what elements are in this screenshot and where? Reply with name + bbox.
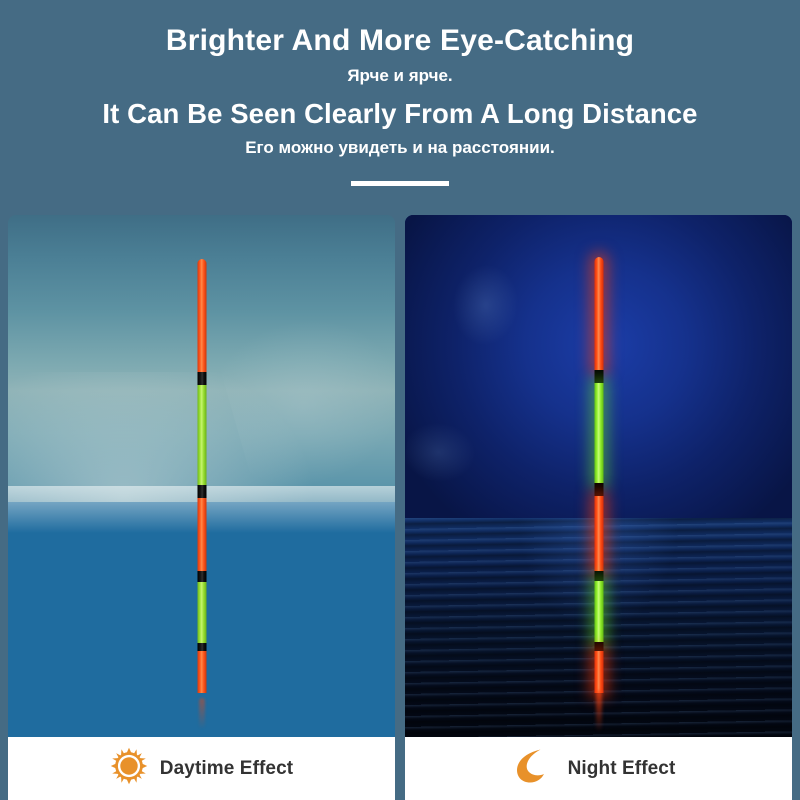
night-fishing-float	[594, 257, 603, 693]
page-subtitle-ru-1: Ярче и ярче.	[0, 62, 800, 90]
float-segment-black	[594, 571, 603, 582]
float-segment-orange	[594, 651, 603, 692]
night-caption-bar: Night Effect	[405, 737, 792, 800]
daytime-float-reflection	[199, 698, 205, 729]
float-segment-green	[197, 582, 206, 643]
header-divider	[351, 181, 449, 186]
panel-daytime[interactable]: Daytime Effect	[0, 212, 395, 800]
float-segment-orange	[197, 651, 206, 692]
panel-night[interactable]: Night Effect	[405, 212, 800, 800]
sun-icon	[110, 747, 148, 790]
float-segment-black	[197, 372, 206, 385]
night-float-reflection	[596, 690, 602, 732]
float-segment-orange	[197, 498, 206, 572]
float-segment-black	[594, 483, 603, 496]
comparison-panels: Daytime Effect Night Effect	[0, 212, 800, 800]
float-segment-green	[594, 383, 603, 483]
float-segment-black	[594, 642, 603, 651]
daytime-photo	[8, 215, 395, 737]
page-subtitle-ru-2: Его можно увидеть и на расстоянии.	[0, 134, 800, 161]
float-segment-orange	[594, 257, 603, 370]
header: Brighter And More Eye-Catching Ярче и яр…	[0, 0, 800, 161]
daytime-caption-bar: Daytime Effect	[8, 737, 395, 800]
daytime-fishing-float	[197, 259, 206, 692]
float-segment-black	[197, 643, 206, 652]
night-photo	[405, 215, 792, 737]
float-segment-orange	[197, 259, 206, 372]
page-title-secondary: It Can Be Seen Clearly From A Long Dista…	[0, 96, 800, 132]
moon-icon	[512, 747, 546, 790]
float-segment-black	[197, 485, 206, 498]
night-caption-label: Night Effect	[568, 758, 676, 780]
float-segment-green	[197, 385, 206, 485]
page-title: Brighter And More Eye-Catching	[0, 22, 800, 60]
daytime-caption-label: Daytime Effect	[160, 758, 293, 780]
panel-divider	[395, 212, 405, 800]
float-segment-orange	[594, 496, 603, 570]
float-segment-green	[594, 581, 603, 642]
float-segment-black	[594, 370, 603, 383]
divider-wrap	[0, 173, 800, 191]
float-segment-black	[197, 571, 206, 582]
